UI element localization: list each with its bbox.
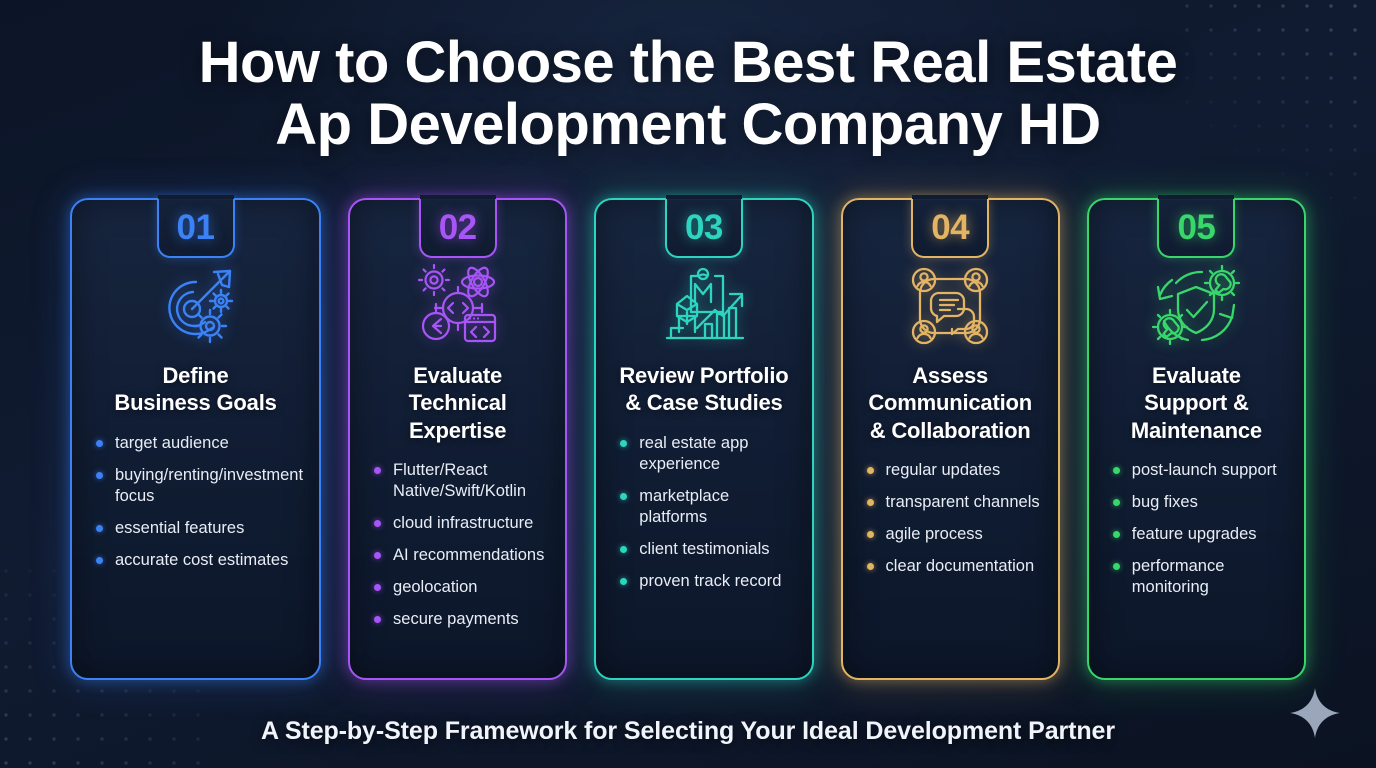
- step-number-badge: 01: [157, 198, 235, 258]
- list-item: Flutter/React Native/Swift/Kotlin: [374, 460, 549, 502]
- step-card-title-line: & Case Studies: [619, 389, 788, 416]
- list-item: secure payments: [374, 609, 549, 630]
- step-number-label: 02: [439, 210, 477, 245]
- list-item: accurate cost estimates: [96, 550, 303, 571]
- step-card-title: AssessCommunication& Collaboration: [868, 362, 1032, 444]
- portfolio-chart-growth-icon: [659, 264, 749, 348]
- list-item: post-launch support: [1113, 460, 1288, 481]
- step-card-title-line: Assess: [868, 362, 1032, 389]
- step-card-title: EvaluateSupport &Maintenance: [1131, 362, 1262, 444]
- list-item: essential features: [96, 518, 303, 539]
- step-number-badge: 02: [419, 198, 497, 258]
- shield-check-gears-wrench-icon: [1150, 264, 1242, 348]
- step-card-rail: 01 DefineBusiness Goalstarget audiencebu…: [70, 198, 1306, 680]
- step-card-title-line: & Collaboration: [868, 417, 1032, 444]
- step-number-label: 05: [1177, 210, 1215, 245]
- list-item: agile process: [867, 524, 1042, 545]
- page-title-line-2: Ap Development Company HD: [120, 94, 1256, 156]
- step-card-title: Review Portfolio& Case Studies: [619, 362, 788, 417]
- list-item: cloud infrastructure: [374, 513, 549, 534]
- target-arrow-gears-icon: [152, 264, 240, 348]
- step-number-badge: 03: [665, 198, 743, 258]
- step-card-05[interactable]: 05 EvaluateSupport &Maintenancepost-laun…: [1087, 198, 1306, 680]
- step-card-title-line: Define: [114, 362, 276, 389]
- step-card-title-line: Maintenance: [1131, 417, 1262, 444]
- list-item: marketplace platforms: [620, 486, 795, 528]
- step-card-title-line: Communication: [868, 389, 1032, 416]
- step-number-label: 04: [931, 210, 969, 245]
- step-card-02[interactable]: 02: [348, 198, 567, 680]
- step-card-bullet-list: Flutter/React Native/Swift/Kotlincloud i…: [364, 460, 551, 642]
- infographic-canvas: How to Choose the Best Real Estate Ap De…: [0, 0, 1376, 768]
- list-item: transparent channels: [867, 492, 1042, 513]
- list-item: buying/renting/investment focus: [96, 465, 303, 507]
- step-card-bullet-list: real estate app experiencemarketplace pl…: [610, 433, 797, 604]
- step-number-label: 03: [685, 210, 723, 245]
- list-item: AI recommendations: [374, 545, 549, 566]
- step-number-badge: 04: [911, 198, 989, 258]
- step-card-01[interactable]: 01 DefineBusiness Goalstarget audiencebu…: [70, 198, 321, 680]
- step-card-title: EvaluateTechnicalExpertise: [409, 362, 507, 444]
- list-item: real estate app experience: [620, 433, 795, 475]
- step-number-label: 01: [177, 210, 215, 245]
- step-card-title: DefineBusiness Goals: [114, 362, 276, 417]
- list-item: client testimonials: [620, 539, 795, 560]
- list-item: bug fixes: [1113, 492, 1288, 513]
- list-item: clear documentation: [867, 556, 1042, 577]
- step-card-title-line: Business Goals: [114, 389, 276, 416]
- step-card-bullet-list: regular updatestransparent channelsagile…: [857, 460, 1044, 588]
- page-title-line-1: How to Choose the Best Real Estate: [199, 30, 1178, 95]
- list-item: geolocation: [374, 577, 549, 598]
- page-title: How to Choose the Best Real Estate Ap De…: [0, 32, 1376, 156]
- list-item: target audience: [96, 433, 303, 454]
- list-item: performance monitoring: [1113, 556, 1288, 598]
- step-card-03[interactable]: 03 Review Portfolio& Case Studiesreal es…: [594, 198, 813, 680]
- step-card-bullet-list: target audiencebuying/renting/investment…: [86, 433, 305, 583]
- step-card-title-line: Review Portfolio: [619, 362, 788, 389]
- step-card-title-line: Technical: [409, 389, 507, 416]
- list-item: regular updates: [867, 460, 1042, 481]
- list-item: proven track record: [620, 571, 795, 592]
- code-gear-react-flutter-icon: [412, 264, 504, 348]
- footer-caption: A Step-by-Step Framework for Selecting Y…: [0, 717, 1376, 746]
- team-collaboration-chat-icon: [906, 264, 994, 348]
- step-card-title-line: Evaluate: [1131, 362, 1262, 389]
- step-card-title-line: Evaluate: [409, 362, 507, 389]
- step-card-bullet-list: post-launch supportbug fixesfeature upgr…: [1103, 460, 1290, 610]
- step-card-title-line: Support &: [1131, 389, 1262, 416]
- step-number-badge: 05: [1157, 198, 1235, 258]
- step-card-title-line: Expertise: [409, 417, 507, 444]
- list-item: feature upgrades: [1113, 524, 1288, 545]
- step-card-04[interactable]: 04 AssessCommunication& Collaborationreg…: [841, 198, 1060, 680]
